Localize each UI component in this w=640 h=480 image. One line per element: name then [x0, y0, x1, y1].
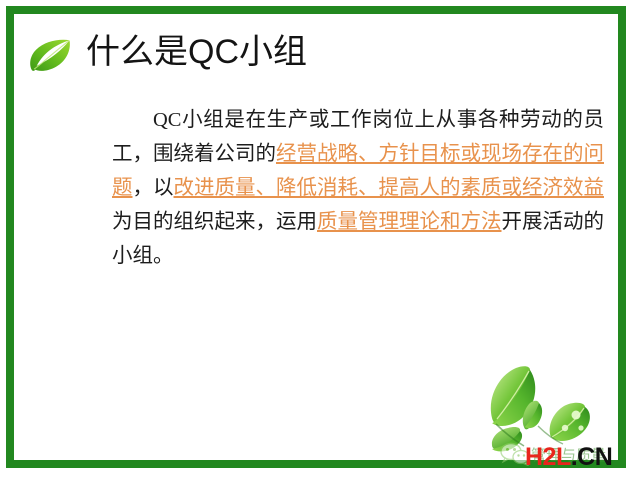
highlighted-term: 改进质量、降低消耗、提高人的素质或经济效益 — [174, 177, 605, 199]
page-title: 什么是QC小组 — [86, 34, 307, 71]
leaf-cluster-decoration — [468, 356, 628, 460]
highlighted-term: 质量管理理论和方法 — [317, 211, 502, 233]
slide-canvas: 什么是QC小组 QC小组是在生产或工作岗位上从事各种劳动的员工，围绕着公司的经营… — [0, 0, 640, 480]
wechat-icon — [500, 442, 530, 466]
body-paragraph: QC小组是在生产或工作岗位上从事各种劳动的员工，围绕着公司的经营战略、方针目标或… — [112, 103, 604, 273]
watermark-brand-tld: .CN — [571, 443, 613, 471]
watermark: 管理与质量 H2L.CN — [500, 434, 640, 474]
leaf-icon — [28, 38, 72, 72]
slide-title-row: 什么是QC小组 — [28, 22, 588, 84]
body-text-run: ，以 — [133, 177, 174, 199]
site-watermark: H2L.CN — [525, 443, 612, 472]
body-text-run: 为目的组织起来，运用 — [112, 211, 317, 233]
slide-body-block: QC小组是在生产或工作岗位上从事各种劳动的员工，围绕着公司的经营战略、方针目标或… — [112, 103, 604, 273]
watermark-brand-red: H2L — [525, 443, 571, 471]
wechat-account-label: 管理与质量 — [531, 444, 606, 465]
